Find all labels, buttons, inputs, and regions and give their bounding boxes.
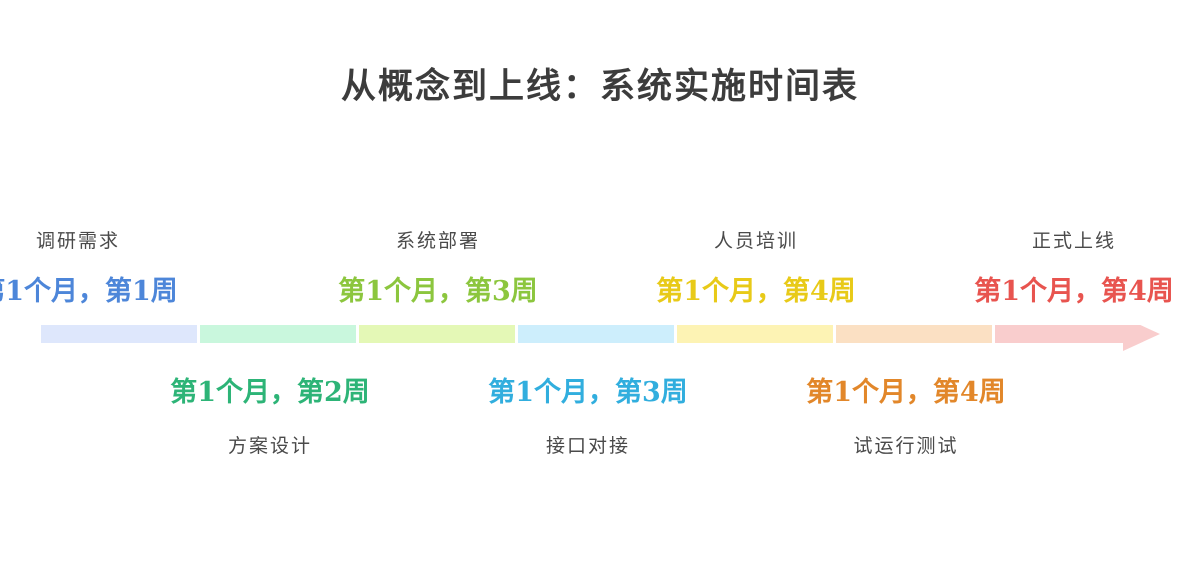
milestone-6-label: 试运行测试 bbox=[797, 435, 1015, 458]
timeline-segment-4 bbox=[518, 325, 674, 343]
milestone-1-label: 调研需求 bbox=[0, 230, 198, 253]
milestone-1-date: 第1个月，第1周 bbox=[0, 274, 198, 310]
milestone-7-label: 正式上线 bbox=[965, 230, 1183, 253]
milestone-2[interactable]: 第1个月，第2周 方案设计 bbox=[161, 375, 379, 545]
milestone-5-date: 第1个月，第4周 bbox=[647, 274, 865, 310]
milestone-3-label: 系统部署 bbox=[329, 230, 547, 253]
milestone-2-label: 方案设计 bbox=[161, 435, 379, 458]
timeline-segment-6 bbox=[836, 325, 992, 343]
timeline-segment-3 bbox=[359, 325, 515, 343]
timeline-segment-1 bbox=[41, 325, 197, 343]
milestone-3-date: 第1个月，第3周 bbox=[329, 274, 547, 310]
milestone-5[interactable]: 人员培训 第1个月，第4周 bbox=[647, 120, 865, 310]
milestone-7[interactable]: 正式上线 第1个月，第4周 bbox=[965, 120, 1183, 310]
milestone-4-label: 接口对接 bbox=[479, 435, 697, 458]
milestone-5-label: 人员培训 bbox=[647, 230, 865, 253]
timeline-segment-2 bbox=[200, 325, 356, 343]
milestone-4[interactable]: 第1个月，第3周 接口对接 bbox=[479, 375, 697, 545]
milestone-6-date: 第1个月，第4周 bbox=[797, 375, 1015, 411]
milestone-4-date: 第1个月，第3周 bbox=[479, 375, 697, 411]
milestone-3[interactable]: 系统部署 第1个月，第3周 bbox=[329, 120, 547, 310]
timeline-segment-5 bbox=[677, 325, 833, 343]
timeline-axis-svg bbox=[0, 325, 1200, 365]
milestone-7-date: 第1个月，第4周 bbox=[965, 274, 1183, 310]
milestone-2-date: 第1个月，第2周 bbox=[161, 375, 379, 411]
milestone-1[interactable]: 调研需求 第1个月，第1周 bbox=[0, 170, 198, 310]
timeline-axis bbox=[0, 325, 1200, 365]
page-title: 从概念到上线：系统实施时间表 bbox=[0, 58, 1200, 109]
timeline-diagram: 从概念到上线：系统实施时间表 调研需求 第1个月，第1周 系统部署 第1个月，第… bbox=[0, 0, 1200, 573]
timeline-segment-7-arrow bbox=[995, 325, 1160, 351]
milestone-6[interactable]: 第1个月，第4周 试运行测试 bbox=[797, 375, 1015, 545]
timeline-segments bbox=[41, 325, 1160, 351]
